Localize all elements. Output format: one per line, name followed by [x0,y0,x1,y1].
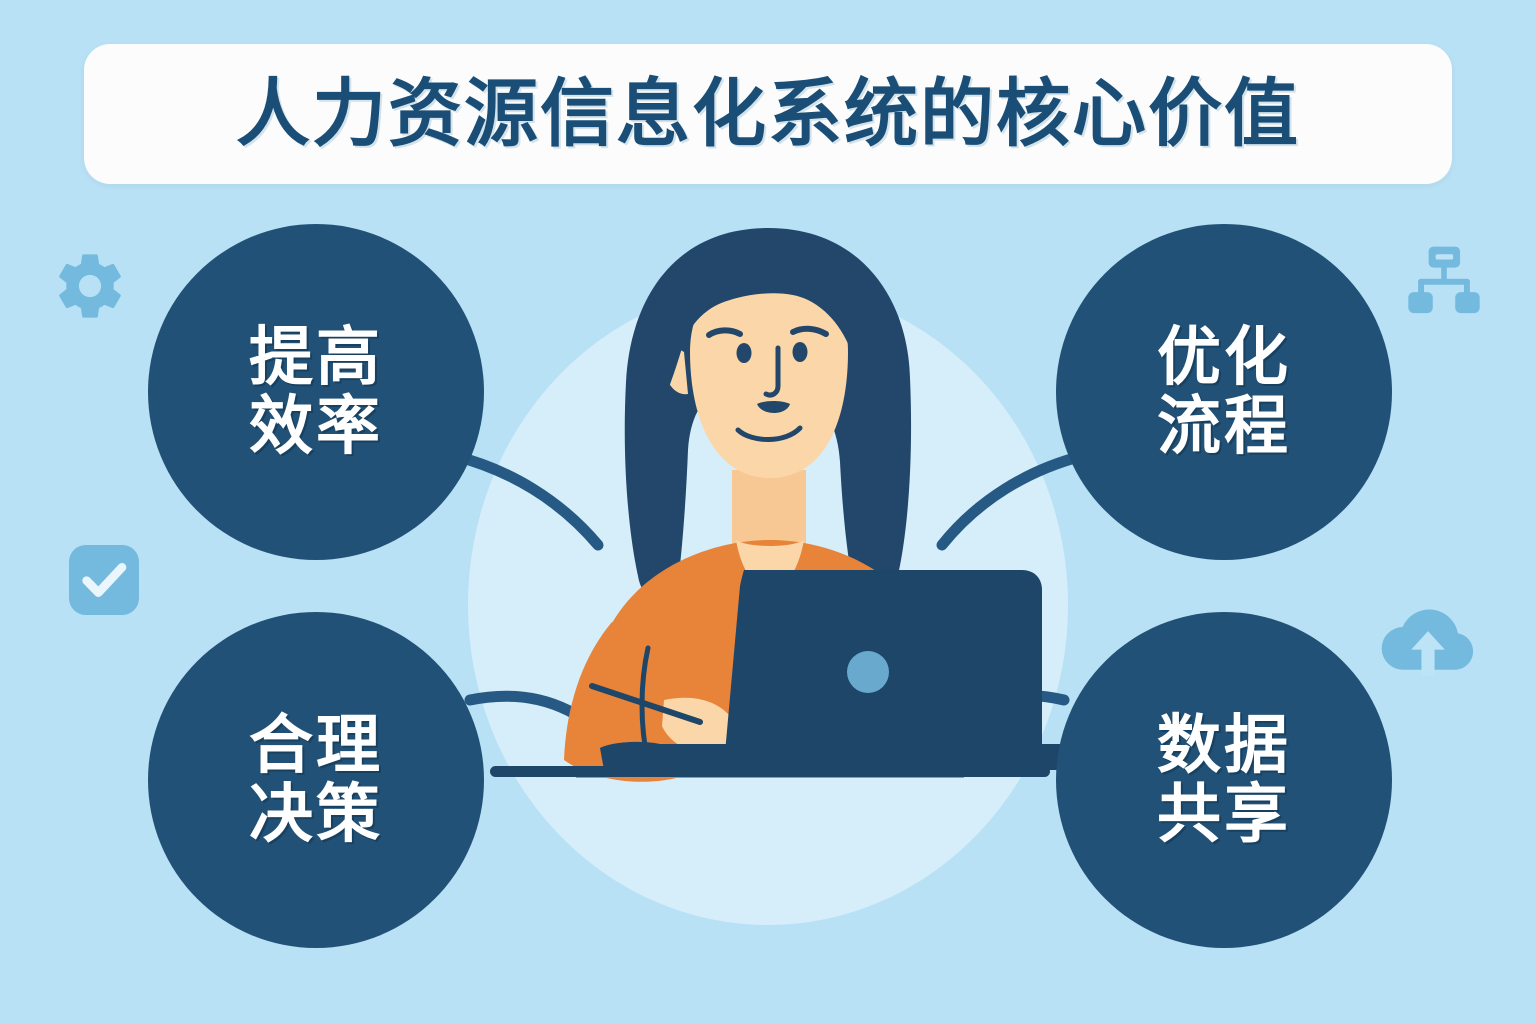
value-bubble-top-right[interactable]: 优化 流程 [1056,224,1392,560]
eye-right [793,342,808,362]
value-bubble-top-left[interactable]: 提高 效率 [148,224,484,560]
bubble-line-1: 数据 [1157,711,1291,780]
cloud-upload-icon [1378,600,1478,687]
bubble-line-1: 合理 [249,711,383,780]
org-chart-icon [1402,240,1486,331]
checkbox-check-icon [64,540,144,625]
laptop-base [600,742,1060,770]
bubble-line-1: 提高 [249,323,383,392]
page-title: 人力资源信息化系统的核心价值 [236,77,1300,151]
value-bubble-bottom-left[interactable]: 合理 决策 [148,612,484,948]
laptop-logo-icon [847,651,889,693]
bubble-line-2: 效率 [249,392,383,461]
bubble-line-2: 流程 [1157,392,1291,461]
bubble-line-2: 共享 [1157,780,1291,849]
poster-canvas: 人力资源信息化系统的核心价值 提高 效率 优化 流程 合理 决策 数据 共享 [0,0,1536,1024]
bubble-line-1: 优化 [1157,323,1291,392]
value-bubble-bottom-right[interactable]: 数据 共享 [1056,612,1392,948]
gear-icon [52,248,128,329]
desk-line [490,766,1050,777]
eye-left [737,343,752,363]
bubble-line-2: 决策 [249,780,383,849]
title-card: 人力资源信息化系统的核心价值 [84,44,1452,184]
